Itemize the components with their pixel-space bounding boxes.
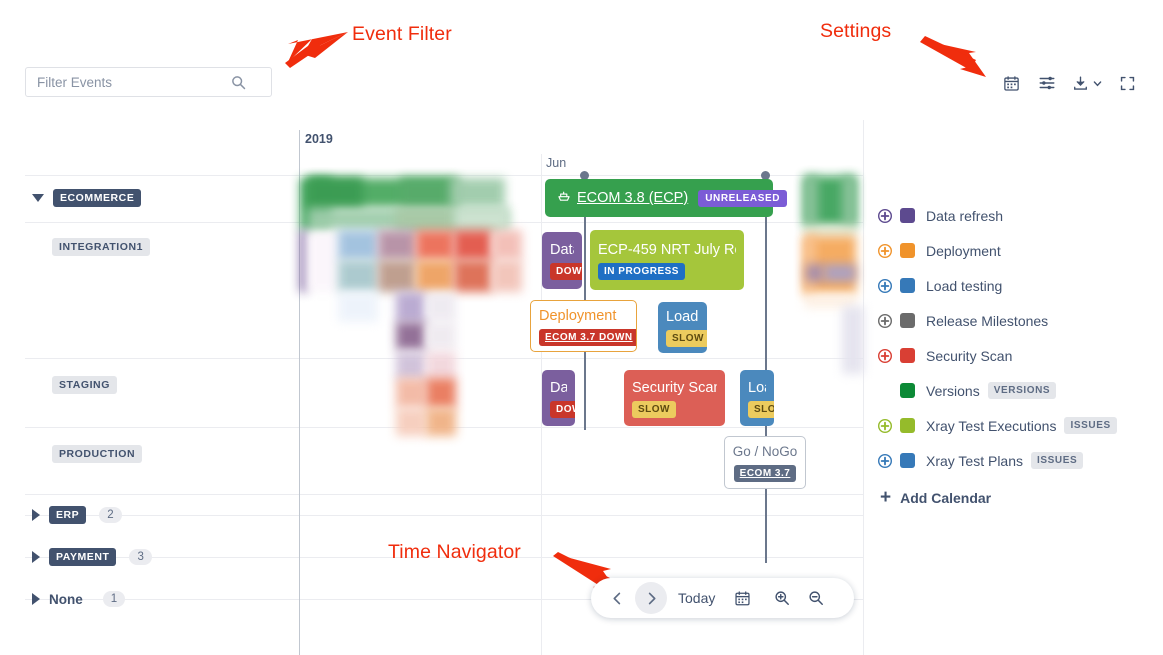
caret-down-icon[interactable] [32, 194, 44, 202]
legend-item-xray-test-plans[interactable]: Xray Test Plans ISSUES [878, 443, 1158, 478]
row-label-production[interactable]: PRODUCTION [52, 444, 142, 464]
legend-label: Xray Test Plans [926, 453, 1023, 469]
row-label-payment[interactable]: PAYMENT 3 [32, 547, 152, 567]
time-navigator: Today [591, 578, 854, 618]
fullscreen-button[interactable] [1109, 68, 1145, 98]
ship-icon [557, 189, 571, 207]
event-card-ecp-459[interactable]: ECP-459 NRT July Re IN PROGRESS [590, 230, 744, 290]
row-count: 3 [129, 549, 151, 565]
add-event-icon[interactable] [878, 349, 900, 363]
legend-item-deployment[interactable]: Deployment [878, 233, 1158, 268]
legend-label: Versions [926, 383, 980, 399]
event-card-load-testing-2[interactable]: Loa SLO [740, 370, 774, 426]
annotation-arrow-settings [920, 36, 990, 81]
event-badge: SLO [748, 401, 774, 418]
legend-swatch [900, 243, 915, 258]
row-label-staging[interactable]: STAGING [52, 375, 117, 395]
version-title: ECOM 3.8 (ECP) [577, 190, 688, 206]
plus-icon: + [880, 491, 891, 505]
filter-events-field[interactable] [25, 67, 272, 97]
event-card-data-refresh-1[interactable]: Data DOWN [542, 232, 582, 289]
row-count: 1 [103, 591, 125, 607]
row-divider [25, 494, 863, 495]
row-tag: INTEGRATION1 [52, 238, 150, 256]
row-tag: ERP [49, 506, 86, 524]
event-title: Go / NoGo [733, 443, 798, 461]
legend-swatch [900, 208, 915, 223]
add-calendar-button[interactable]: + Add Calendar [880, 490, 1158, 506]
timeline-year-label: 2019 [305, 132, 333, 146]
annotation-settings: Settings [820, 20, 891, 43]
legend-type-badge: ISSUES [1031, 452, 1083, 469]
event-badge: SLOW [666, 330, 707, 347]
caret-right-icon[interactable] [32, 551, 40, 563]
row-tag: PAYMENT [49, 548, 116, 566]
legend-label: Xray Test Executions [926, 418, 1056, 434]
legend-label: Data refresh [926, 208, 1003, 224]
event-title: Load t [666, 308, 699, 326]
timeline-marker-end [765, 175, 767, 563]
zoom-in-button[interactable] [766, 582, 798, 614]
event-card-data-refresh-2[interactable]: Data DOWN [542, 370, 575, 426]
calendar-legend: Data refresh Deployment Load testing [878, 198, 1158, 506]
today-button[interactable]: Today [678, 590, 715, 606]
calendar-view-button[interactable] [993, 68, 1029, 98]
row-tag: ECOMMERCE [53, 189, 141, 207]
legend-item-security-scan[interactable]: Security Scan [878, 338, 1158, 373]
event-badge: IN PROGRESS [598, 263, 685, 280]
event-title: ECP-459 NRT July Re [598, 241, 736, 259]
row-label-none[interactable]: None 1 [32, 589, 125, 609]
legend-item-data-refresh[interactable]: Data refresh [878, 198, 1158, 233]
top-toolbar-area: Event Filter Settings [0, 0, 1163, 120]
legend-swatch [900, 383, 915, 398]
event-badge: ECOM 3.7 [734, 465, 797, 482]
event-badge: ECOM 3.7 DOWN [539, 329, 637, 346]
legend-label: Release Milestones [926, 313, 1048, 329]
legend-label: Security Scan [926, 348, 1012, 364]
search-icon [231, 75, 246, 90]
legend-label: Deployment [926, 243, 1001, 259]
legend-item-xray-test-executions[interactable]: Xray Test Executions ISSUES [878, 408, 1158, 443]
toolbar [993, 68, 1145, 98]
row-divider [25, 515, 863, 516]
legend-swatch [900, 313, 915, 328]
row-tag: STAGING [52, 376, 117, 394]
add-event-icon[interactable] [878, 279, 900, 293]
version-status-badge: UNRELEASED [698, 190, 787, 207]
annotation-event-filter: Event Filter [352, 23, 452, 46]
event-badge: DOWN [550, 263, 582, 280]
event-card-security-scan[interactable]: Security Scan SLOW [624, 370, 725, 426]
add-event-icon[interactable] [878, 454, 900, 468]
caret-right-icon[interactable] [32, 593, 40, 605]
legend-type-badge: ISSUES [1064, 417, 1116, 434]
event-title: Security Scan [632, 379, 717, 397]
event-title: Loa [748, 379, 766, 397]
search-input[interactable] [26, 69, 231, 95]
legend-swatch [900, 348, 915, 363]
jump-to-date-button[interactable] [726, 582, 758, 614]
settings-button[interactable] [1029, 68, 1065, 98]
event-badge: SLOW [632, 401, 676, 418]
next-period-button[interactable] [635, 582, 667, 614]
caret-right-icon[interactable] [32, 509, 40, 521]
legend-swatch [900, 418, 915, 433]
row-divider [25, 175, 863, 176]
annotation-arrow-event-filter [282, 28, 350, 68]
legend-swatch [900, 453, 915, 468]
timeline-month-label: Jun [546, 156, 566, 170]
row-count: 2 [99, 507, 121, 523]
add-event-icon[interactable] [878, 244, 900, 258]
event-title: Data [550, 379, 567, 397]
legend-item-release-milestones[interactable]: Release Milestones [878, 303, 1158, 338]
row-label-erp[interactable]: ERP 2 [32, 505, 122, 525]
event-card-go-nogo[interactable]: Go / NoGo ECOM 3.7 [724, 436, 806, 489]
event-title: Deployment [539, 307, 628, 325]
event-badge: DOWN [550, 401, 575, 418]
add-event-icon[interactable] [878, 419, 900, 433]
event-card-load-testing-1[interactable]: Load t SLOW [658, 302, 707, 353]
legend-item-load-testing[interactable]: Load testing [878, 268, 1158, 303]
legend-swatch [900, 278, 915, 293]
add-event-icon[interactable] [878, 209, 900, 223]
row-label-integration1[interactable]: INTEGRATION1 [52, 237, 150, 257]
zoom-out-button[interactable] [800, 582, 832, 614]
legend-item-versions[interactable]: Versions VERSIONS [878, 373, 1158, 408]
add-calendar-label: Add Calendar [900, 490, 991, 506]
row-label-ecommerce[interactable]: ECOMMERCE [32, 188, 141, 208]
annotation-time-navigator: Time Navigator [388, 541, 521, 564]
row-tag: PRODUCTION [52, 445, 142, 463]
prev-period-button[interactable] [601, 582, 633, 614]
event-card-deployment[interactable]: Deployment ECOM 3.7 DOWN [530, 300, 637, 352]
column-divider-right [863, 120, 864, 655]
add-event-icon[interactable] [878, 314, 900, 328]
version-bar-ecom-38[interactable]: ECOM 3.8 (ECP) UNRELEASED [545, 179, 773, 217]
chevron-down-icon [1092, 78, 1103, 89]
legend-type-badge: VERSIONS [988, 382, 1056, 399]
row-tag: None [49, 589, 90, 610]
legend-label: Load testing [926, 278, 1002, 294]
event-title: Data [550, 241, 574, 259]
export-button[interactable] [1065, 68, 1109, 98]
